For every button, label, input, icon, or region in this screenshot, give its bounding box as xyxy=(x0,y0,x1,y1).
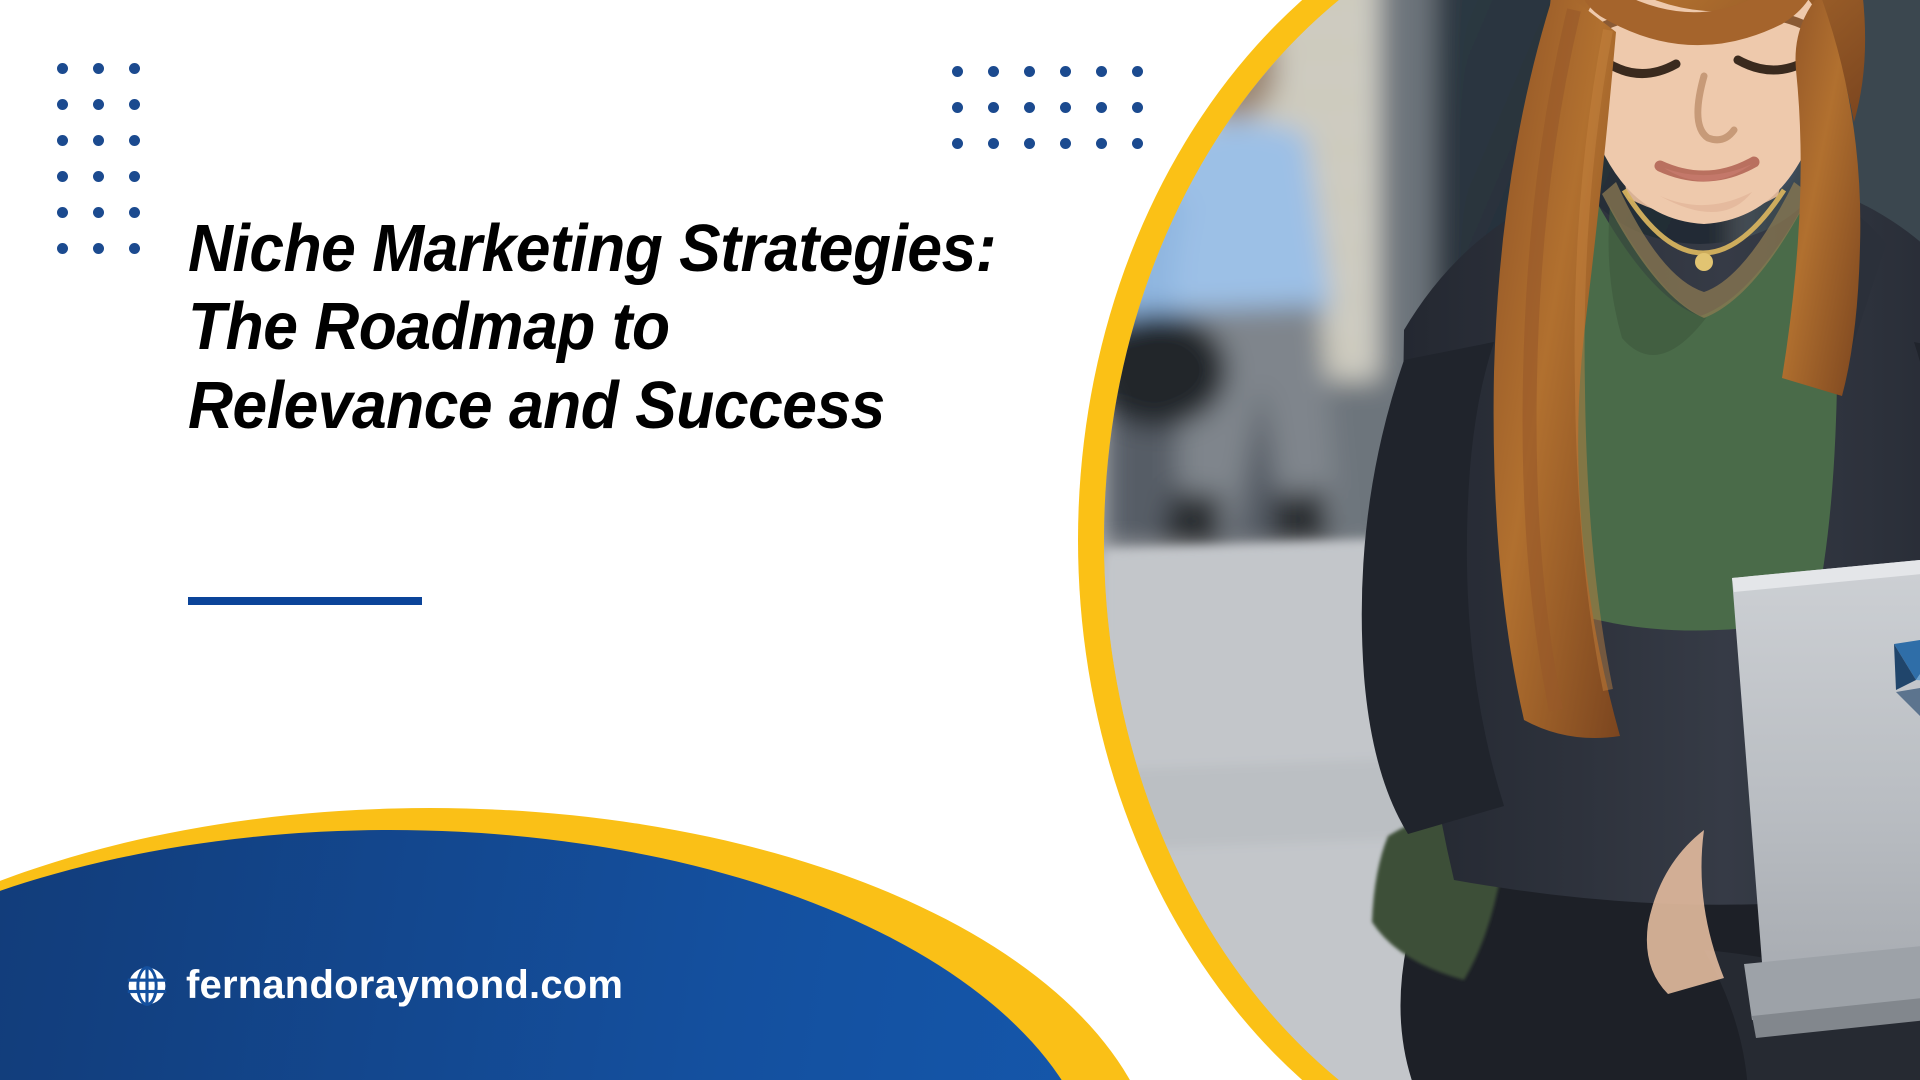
dot xyxy=(93,135,104,146)
dot xyxy=(952,138,963,149)
dot xyxy=(1096,102,1107,113)
dot xyxy=(57,207,68,218)
dot xyxy=(952,66,963,77)
dot xyxy=(129,207,140,218)
dot xyxy=(1024,66,1035,77)
dot xyxy=(988,102,999,113)
dot xyxy=(57,135,68,146)
dot xyxy=(1060,102,1071,113)
dot xyxy=(1060,138,1071,149)
dot xyxy=(1024,102,1035,113)
site-url-label: fernandoraymond.com xyxy=(186,963,623,1008)
dot xyxy=(1096,66,1107,77)
slide-canvas: Niche Marketing Strategies: The Roadmap … xyxy=(0,0,1920,1080)
dot xyxy=(1132,102,1143,113)
site-url-row[interactable]: fernandoraymond.com xyxy=(126,963,623,1008)
title-accent-rule xyxy=(188,597,422,605)
footer-wave-yellow xyxy=(0,808,1160,1080)
dot xyxy=(1060,66,1071,77)
dot xyxy=(952,102,963,113)
footer-wave xyxy=(0,750,1180,1080)
dot xyxy=(93,99,104,110)
headline-block: Niche Marketing Strategies: The Roadmap … xyxy=(188,210,1118,445)
dot xyxy=(93,243,104,254)
page-title: Niche Marketing Strategies: The Roadmap … xyxy=(188,210,1053,445)
dot xyxy=(129,135,140,146)
dot-grid-top xyxy=(952,66,1143,149)
dot xyxy=(129,63,140,74)
dot xyxy=(57,63,68,74)
dot xyxy=(129,243,140,254)
dot xyxy=(1132,138,1143,149)
dot xyxy=(129,99,140,110)
footer-wave-blue xyxy=(0,830,1100,1080)
dot xyxy=(93,171,104,182)
dot xyxy=(1024,138,1035,149)
dot xyxy=(1096,138,1107,149)
dot xyxy=(57,171,68,182)
dot xyxy=(988,66,999,77)
dot-grid-left xyxy=(57,63,140,254)
dot xyxy=(988,138,999,149)
hero-photo-illustration: ClickDo Ltd. HELPING YOU GET MORE CLICKS… xyxy=(1104,0,1920,1080)
hero-photo: ClickDo Ltd. HELPING YOU GET MORE CLICKS… xyxy=(1104,0,1920,1080)
dot xyxy=(129,171,140,182)
dot xyxy=(57,99,68,110)
globe-icon xyxy=(126,965,168,1007)
dot xyxy=(93,63,104,74)
dot xyxy=(93,207,104,218)
dot xyxy=(1132,66,1143,77)
dot xyxy=(57,243,68,254)
